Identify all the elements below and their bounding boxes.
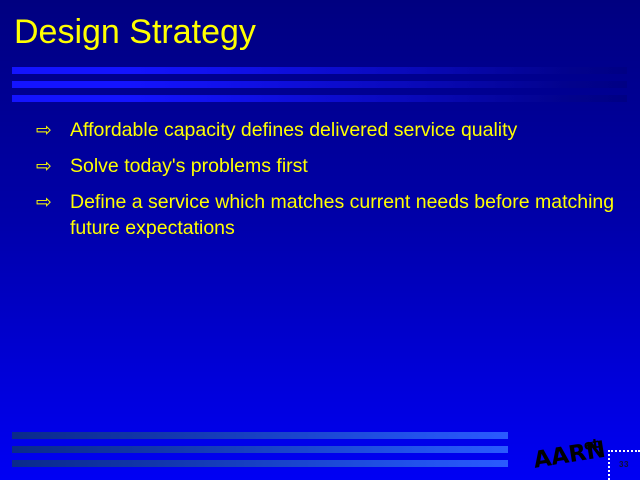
slide-number-box: 33	[608, 450, 640, 480]
aarnet-logo-sub-text: et	[583, 437, 600, 454]
aarnet-logo: AARN et	[531, 430, 611, 474]
bullet-list: ⇨ Affordable capacity defines delivered …	[36, 117, 616, 251]
slide-title: Design Strategy	[14, 12, 256, 52]
decorative-stripe-band-top	[12, 67, 627, 102]
list-item: ⇨ Solve today's problems first	[36, 153, 616, 179]
arrow-right-icon: ⇨	[36, 117, 70, 143]
stripe-top-3	[12, 95, 627, 102]
arrow-right-icon: ⇨	[36, 189, 70, 215]
stripe-top-2	[12, 81, 627, 88]
stripe-top-1	[12, 67, 627, 74]
stripe-bottom-3	[12, 460, 508, 467]
list-item: ⇨ Affordable capacity defines delivered …	[36, 117, 616, 143]
slide-number: 33	[619, 461, 629, 469]
stripe-bottom-1	[12, 432, 508, 439]
list-item: ⇨ Define a service which matches current…	[36, 189, 616, 241]
list-item-label: Affordable capacity defines delivered se…	[70, 117, 616, 143]
presentation-slide: Design Strategy ⇨ Affordable capacity de…	[0, 0, 640, 480]
arrow-right-icon: ⇨	[36, 153, 70, 179]
list-item-label: Define a service which matches current n…	[70, 189, 616, 241]
decorative-stripe-band-bottom	[12, 432, 508, 467]
stripe-bottom-2	[12, 446, 508, 453]
list-item-label: Solve today's problems first	[70, 153, 616, 179]
